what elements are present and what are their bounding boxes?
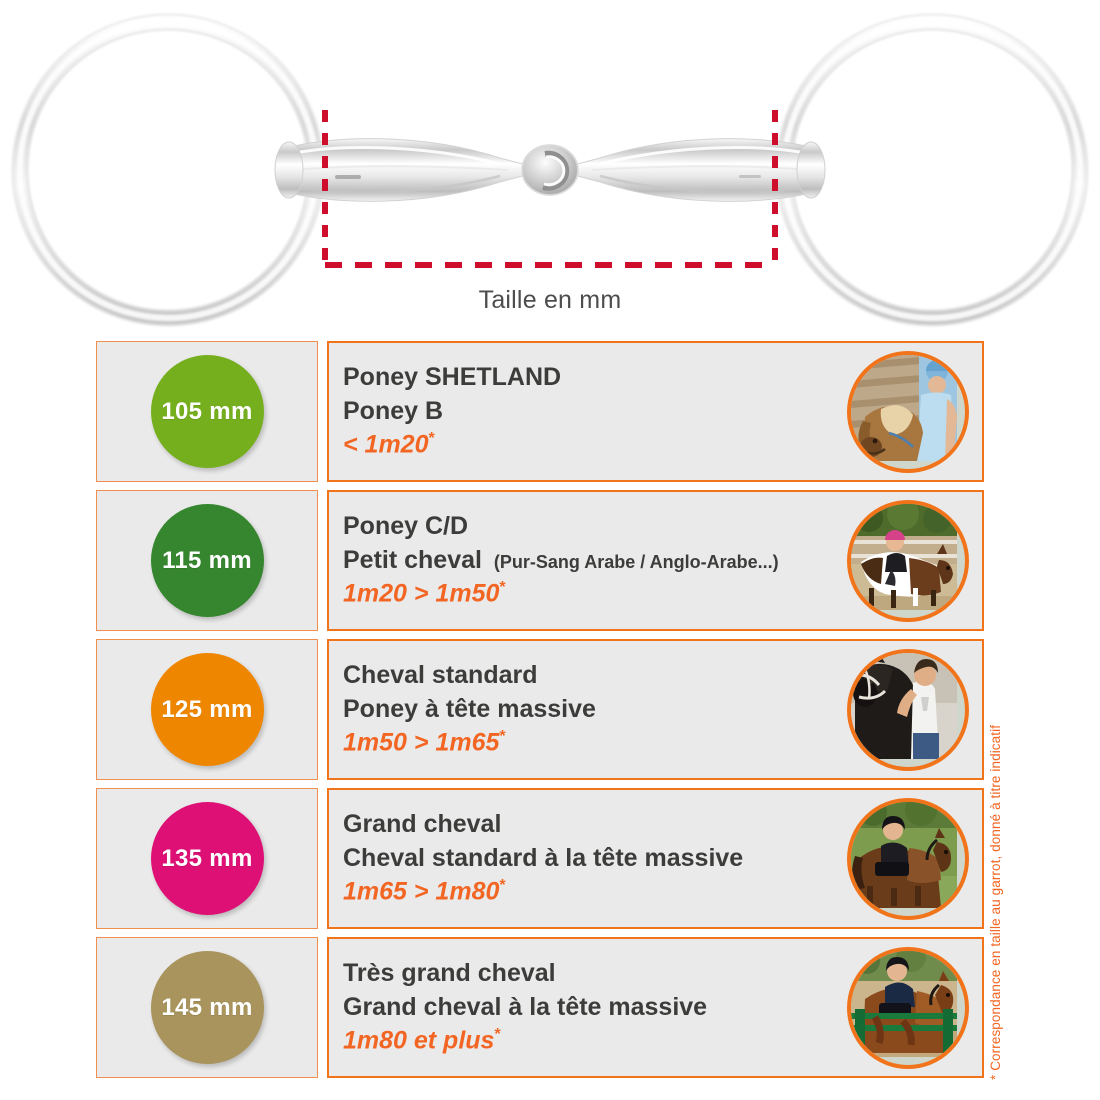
row-line-2-text: Poney B [343, 397, 443, 425]
table-row: 125 mm Cheval standard Poney à tête mass… [96, 639, 984, 780]
size-badge: 125 mm [151, 653, 264, 766]
bit-center-joint [522, 145, 578, 195]
size-swatch-cell: 135 mm [96, 788, 318, 929]
row-line-1: Cheval standard [343, 659, 839, 693]
row-range-text: 1m65 > 1m80 [343, 877, 499, 905]
row-range-text: 1m80 et plus [343, 1026, 494, 1054]
row-line-2-sub: (Pur-Sang Arabe / Anglo-Arabe...) [494, 552, 779, 572]
row-range-text: 1m20 > 1m50 [343, 579, 499, 607]
footnote-asterisk: * [494, 1026, 500, 1043]
table-row: 135 mm Grand cheval Cheval standard à la… [96, 788, 984, 929]
row-text-block: Poney C/D Petit cheval (Pur-Sang Arabe /… [343, 510, 847, 611]
row-line-1: Grand cheval [343, 808, 839, 842]
size-badge: 115 mm [151, 504, 264, 617]
footnote-vertical-text: * Correspondance en taille au garrot, do… [988, 640, 1003, 1080]
row-text-block: Très grand cheval Grand cheval à la tête… [343, 957, 847, 1058]
row-line-1: Poney SHETLAND [343, 361, 839, 395]
size-label: 145 mm [161, 994, 252, 1022]
row-photo-thumbnail [847, 649, 969, 771]
bit-size-table: 105 mm Poney SHETLAND Poney B < 1m20* [96, 341, 984, 1086]
size-badge: 145 mm [151, 951, 264, 1064]
row-info-cell: Très grand cheval Grand cheval à la tête… [327, 937, 984, 1078]
footnote-asterisk: * [499, 728, 505, 745]
row-height-range: 1m65 > 1m80* [343, 875, 839, 909]
row-height-range: 1m80 et plus* [343, 1024, 839, 1058]
row-info-cell: Poney SHETLAND Poney B < 1m20* [327, 341, 984, 482]
row-line-1-text: Très grand cheval [343, 959, 556, 987]
row-height-range: 1m20 > 1m50* [343, 577, 839, 611]
row-range-text: 1m50 > 1m65 [343, 728, 499, 756]
row-photo-thumbnail [847, 798, 969, 920]
measurement-caption: Taille en mm [0, 286, 1100, 315]
dressage-horse-and-rider-photo [851, 802, 957, 908]
footnote-asterisk: * [499, 579, 505, 596]
row-line-2: Cheval standard à la tête massive [343, 842, 839, 876]
table-row: 115 mm Poney C/D Petit cheval (Pur-Sang … [96, 490, 984, 631]
row-range-text: < 1m20 [343, 430, 429, 458]
row-line-2-text: Grand cheval à la tête massive [343, 993, 707, 1021]
size-badge: 135 mm [151, 802, 264, 915]
row-photo-thumbnail [847, 947, 969, 1069]
row-height-range: < 1m20* [343, 428, 839, 462]
snaffle-bit-illustration [0, 0, 1100, 335]
size-swatch-cell: 105 mm [96, 341, 318, 482]
child-riding-pinto-pony-photo [851, 504, 957, 610]
row-line-2: Poney B [343, 395, 839, 429]
row-text-block: Grand cheval Cheval standard à la tête m… [343, 808, 847, 909]
show-jumping-horse-photo [851, 951, 957, 1057]
row-line-2-text: Cheval standard à la tête massive [343, 844, 743, 872]
row-line-1-text: Poney C/D [343, 512, 468, 540]
bit-measurement-diagram: Taille en mm [0, 0, 1100, 335]
row-text-block: Cheval standard Poney à tête massive 1m5… [343, 659, 847, 760]
row-height-range: 1m50 > 1m65* [343, 726, 839, 760]
size-swatch-cell: 145 mm [96, 937, 318, 1078]
row-line-2-text: Petit cheval [343, 546, 482, 574]
size-label: 135 mm [161, 845, 252, 873]
row-info-cell: Grand cheval Cheval standard à la tête m… [327, 788, 984, 929]
row-line-2: Grand cheval à la tête massive [343, 991, 839, 1025]
size-label: 105 mm [161, 398, 252, 426]
row-line-1: Poney C/D [343, 510, 839, 544]
row-photo-thumbnail [847, 351, 969, 473]
bit-mouthpiece-left [275, 139, 545, 202]
row-line-1-text: Poney SHETLAND [343, 363, 561, 391]
size-badge: 105 mm [151, 355, 264, 468]
table-row: 145 mm Très grand cheval Grand cheval à … [96, 937, 984, 1078]
row-line-1-text: Grand cheval [343, 810, 501, 838]
size-swatch-cell: 125 mm [96, 639, 318, 780]
size-label: 125 mm [161, 696, 252, 724]
bit-mouthpiece-right [555, 139, 825, 202]
row-text-block: Poney SHETLAND Poney B < 1m20* [343, 361, 847, 462]
row-photo-thumbnail [847, 500, 969, 622]
row-line-2: Poney à tête massive [343, 693, 839, 727]
row-line-1-text: Cheval standard [343, 661, 538, 689]
rider-with-dark-horse-photo [851, 653, 957, 759]
row-info-cell: Poney C/D Petit cheval (Pur-Sang Arabe /… [327, 490, 984, 631]
size-swatch-cell: 115 mm [96, 490, 318, 631]
row-line-1: Très grand cheval [343, 957, 839, 991]
row-info-cell: Cheval standard Poney à tête massive 1m5… [327, 639, 984, 780]
footnote-asterisk: * [499, 877, 505, 894]
table-row: 105 mm Poney SHETLAND Poney B < 1m20* [96, 341, 984, 482]
row-line-2-text: Poney à tête massive [343, 695, 596, 723]
footnote-asterisk: * [429, 430, 435, 447]
row-line-2: Petit cheval (Pur-Sang Arabe / Anglo-Ara… [343, 544, 839, 578]
size-label: 115 mm [162, 547, 252, 575]
pony-shetland-with-child-photo [851, 355, 957, 461]
